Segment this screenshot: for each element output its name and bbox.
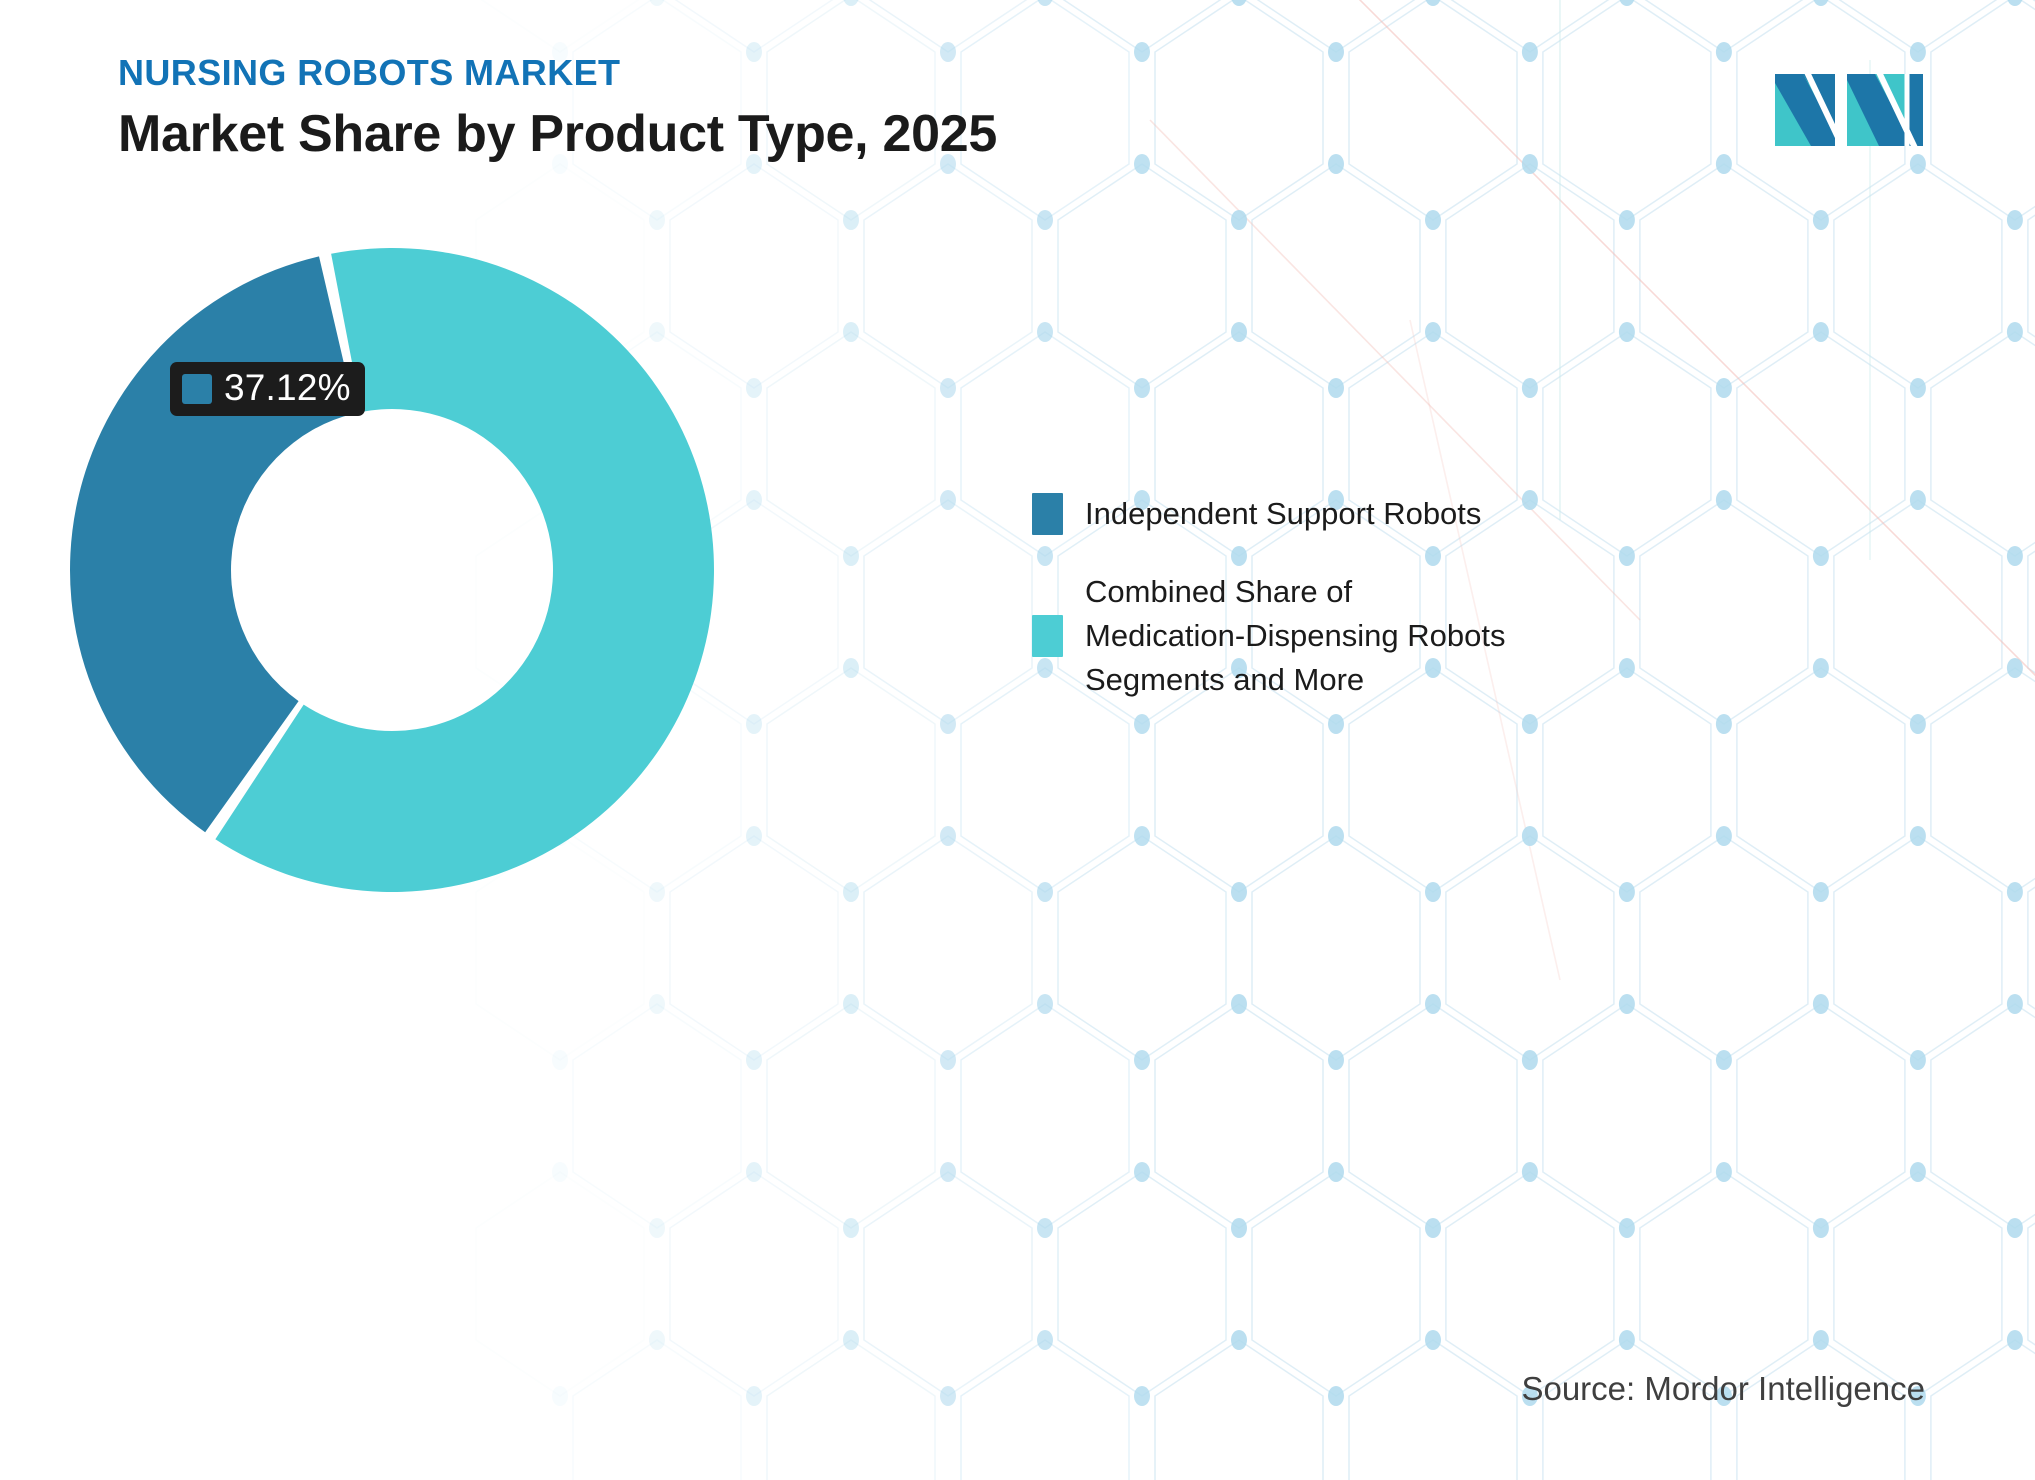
chart-header: NURSING ROBOTS MARKET Market Share by Pr… [118,52,1418,167]
source-note: Source: Mordor Intelligence [1521,1370,1925,1408]
data-label-value: 37.12% [224,369,351,409]
legend-item-combined-share[interactable]: Combined Share of Medication-Dispensing … [1032,570,1752,702]
data-label-swatch [182,374,212,404]
data-label-badge: 37.12% [170,362,365,416]
donut-chart-svg [62,240,722,900]
eyebrow-title: NURSING ROBOTS MARKET [118,52,1418,93]
legend-swatch-icon [1032,493,1063,535]
legend-swatch-icon [1032,615,1063,657]
legend-item-independent-support-robots[interactable]: Independent Support Robots [1032,492,1752,536]
chart-legend: Independent Support Robots Combined Shar… [1032,492,1752,730]
legend-item-label: Combined Share of Medication-Dispensing … [1085,570,1505,702]
legend-item-label: Independent Support Robots [1085,492,1481,536]
mordor-intelligence-logo-icon [1775,74,1923,146]
donut-chart [62,240,722,900]
page-title: Market Share by Product Type, 2025 [118,103,1418,166]
